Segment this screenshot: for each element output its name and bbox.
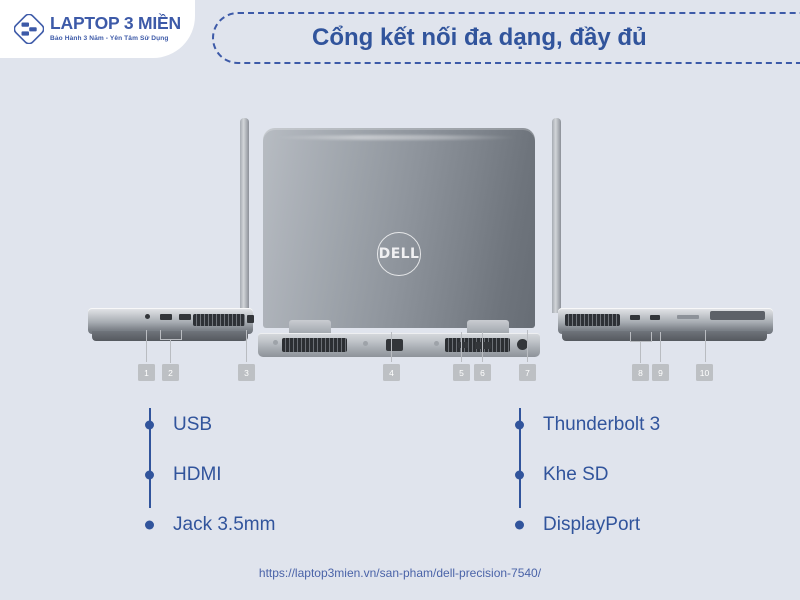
callout-line-5: [461, 332, 462, 362]
feature-label-displayport: DisplayPort: [543, 514, 640, 536]
port-mini-displayport: [458, 342, 468, 348]
callout-line-1: [146, 330, 147, 362]
callout-line-3: [246, 330, 247, 362]
brand-tagline: Bảo Hành 3 Năm - Yên Tâm Sử Dụng: [50, 36, 181, 43]
feature-dot-icon: [145, 421, 154, 430]
port-thunderbolt-1: [630, 315, 640, 320]
callout-line-7: [527, 330, 528, 362]
product-url[interactable]: https://laptop3mien.vn/san-pham/dell-pre…: [0, 566, 800, 580]
callout-brace-2: [160, 330, 182, 340]
callout-brace-8: [630, 332, 652, 342]
callout-line-6: [482, 332, 483, 362]
rear-vent-left: [282, 338, 347, 352]
callout-badge-6[interactable]: 6: [474, 364, 491, 381]
port-usb-a-2: [179, 314, 191, 320]
laptop-left-vent: [193, 314, 245, 326]
callout-badge-5[interactable]: 5: [453, 364, 470, 381]
brand-logo-pill: LAPTOP 3 MIỀN Bảo Hành 3 Năm - Yên Tâm S…: [0, 0, 195, 58]
callout-badge-4[interactable]: 4: [383, 364, 400, 381]
brand-name: LAPTOP 3 MIỀN: [50, 15, 181, 33]
feature-dot-icon: [515, 521, 524, 530]
feature-item-hdmi[interactable]: HDMI: [145, 450, 275, 500]
callout-badge-10[interactable]: 10: [696, 364, 713, 381]
callout-badge-7[interactable]: 7: [519, 364, 536, 381]
port-ethernet-rj45: [386, 339, 403, 351]
feature-item-jack[interactable]: Jack 3.5mm: [145, 500, 275, 550]
callout-line-4: [391, 332, 392, 362]
feature-label-jack: Jack 3.5mm: [173, 514, 275, 536]
callout-badge-9[interactable]: 9: [652, 364, 669, 381]
page-title: Cổng kết nối đa dạng, đầy đủ: [312, 24, 647, 52]
laptop-right-side-view: [540, 95, 790, 350]
laptop-left-screen-edge: [240, 118, 249, 313]
port-expresscard-slot: [710, 311, 765, 320]
dell-logo-text: DELL: [379, 246, 420, 262]
port-audio-jack: [145, 314, 150, 319]
laptop-rear-base: [258, 333, 540, 357]
port-sd-card-slot: [677, 315, 699, 319]
lid-highlight: [273, 135, 519, 140]
feature-dot-icon: [515, 471, 524, 480]
feature-label-thunderbolt: Thunderbolt 3: [543, 414, 660, 436]
port-screw-left: [273, 340, 278, 345]
laptop-rear-view: DELL: [263, 128, 535, 350]
feature-list-left: USB HDMI Jack 3.5mm: [145, 400, 275, 550]
port-screw-mid: [363, 341, 368, 346]
port-usb-a-1: [160, 314, 172, 320]
callout-line-9: [660, 332, 661, 362]
feature-list-right: Thunderbolt 3 Khe SD DisplayPort: [515, 400, 660, 550]
laptop-right-base-underside: [562, 331, 767, 341]
feature-label-usb: USB: [173, 414, 212, 436]
laptop-right-vent: [565, 314, 620, 326]
callout-badge-8[interactable]: 8: [632, 364, 649, 381]
feature-dot-icon: [145, 471, 154, 480]
feature-item-displayport[interactable]: DisplayPort: [515, 500, 660, 550]
feature-item-thunderbolt[interactable]: Thunderbolt 3: [515, 400, 660, 450]
callout-line-10: [705, 330, 706, 362]
page-title-box: Cổng kết nối đa dạng, đầy đủ: [212, 12, 800, 64]
laptop-lid: DELL: [263, 128, 535, 328]
callout-badge-1[interactable]: 1: [138, 364, 155, 381]
feature-item-sd[interactable]: Khe SD: [515, 450, 660, 500]
callout-line-2: [170, 339, 171, 363]
feature-item-usb[interactable]: USB: [145, 400, 275, 450]
dell-logo-icon: DELL: [377, 232, 421, 276]
feature-dot-icon: [145, 521, 154, 530]
laptop3mien-logo-icon: [14, 14, 44, 44]
laptop-left-side-view: [8, 95, 258, 350]
callout-line-8: [640, 341, 641, 363]
callout-badge-3[interactable]: 3: [238, 364, 255, 381]
feature-dot-icon: [515, 421, 524, 430]
feature-label-hdmi: HDMI: [173, 464, 222, 486]
port-screw-mid-2: [434, 341, 439, 346]
port-hdmi: [475, 342, 491, 349]
port-thunderbolt-2: [650, 315, 660, 320]
laptop-illustration-stage: DELL: [0, 95, 800, 360]
feature-label-sd: Khe SD: [543, 464, 608, 486]
laptop-right-screen-edge: [552, 118, 561, 313]
callout-badge-2[interactable]: 2: [162, 364, 179, 381]
port-smartcard-slot: [247, 315, 254, 323]
